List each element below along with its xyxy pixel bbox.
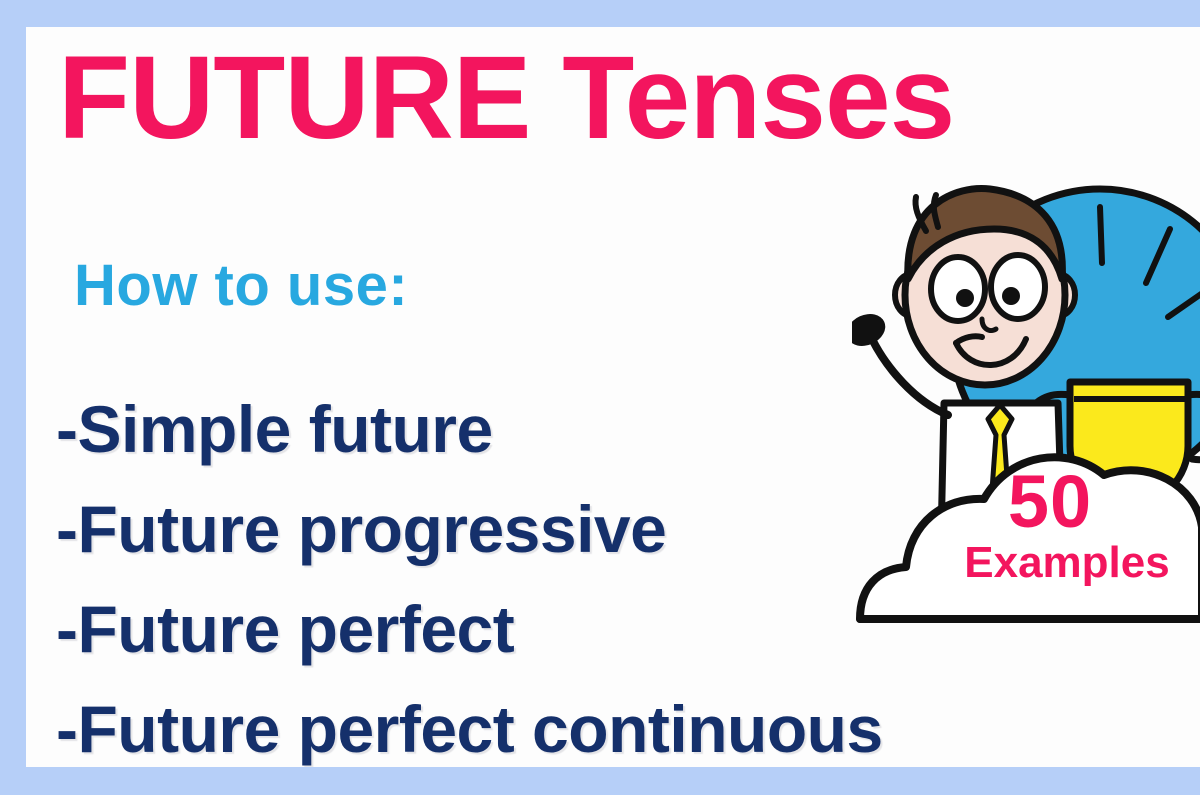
list-item: -Future perfect continuous bbox=[56, 679, 1196, 767]
tense-list: -Simple future -Future progressive -Futu… bbox=[56, 379, 1196, 767]
list-item: -Future progressive bbox=[56, 479, 1196, 579]
subtitle-how-to-use: How to use: bbox=[74, 257, 408, 315]
list-item: -Simple future bbox=[56, 379, 1196, 479]
content-card: 50 Examples FUTURE Tenses How to use: -S… bbox=[26, 27, 1200, 767]
page-title: FUTURE Tenses bbox=[58, 39, 954, 157]
slide-canvas: 50 Examples FUTURE Tenses How to use: -S… bbox=[0, 0, 1200, 795]
list-item: -Future perfect bbox=[56, 579, 1196, 679]
waving-hand-icon bbox=[852, 308, 890, 352]
